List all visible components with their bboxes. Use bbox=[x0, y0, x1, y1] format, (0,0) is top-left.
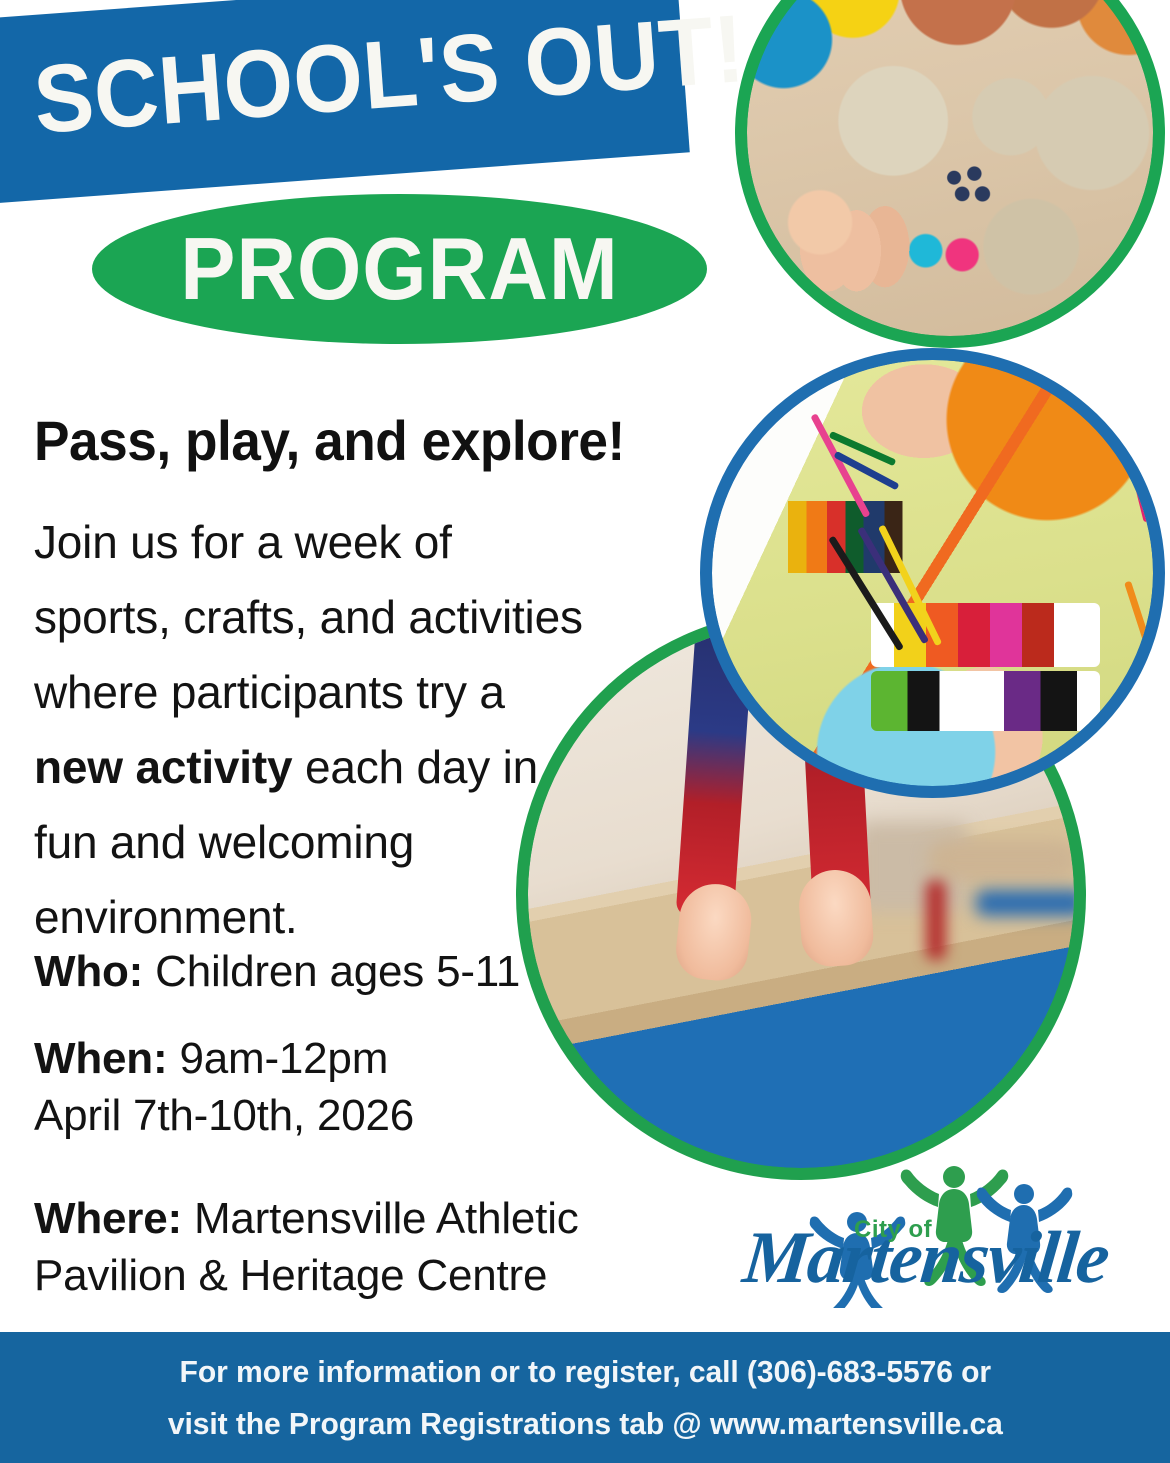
poster-title-line1: SCHOOL'S OUT! bbox=[31, 12, 595, 149]
footer-line-1: For more information or to register, cal… bbox=[179, 1346, 990, 1398]
gym-background-blur-c bbox=[926, 880, 946, 960]
detail-when-line1: When: 9am-12pm bbox=[34, 1030, 414, 1087]
detail-where-label: Where: bbox=[34, 1194, 182, 1243]
pencil-magenta bbox=[1120, 426, 1150, 522]
page-headline: Pass, play, and explore! bbox=[34, 408, 625, 473]
body-paragraph-part1: Join us for a week of sports, crafts, an… bbox=[34, 516, 583, 718]
detail-when: When: 9am-12pm April 7th-10th, 2026 bbox=[34, 1030, 414, 1144]
detail-who-value: Children ages 5-11 bbox=[143, 947, 520, 996]
painting-supplies-image bbox=[712, 360, 1153, 786]
logo-city-of-label: City of bbox=[854, 1216, 932, 1244]
detail-who: Who: Children ages 5-11 bbox=[34, 943, 520, 1000]
clay-crafts-image bbox=[747, 0, 1153, 336]
pencil-orange bbox=[1124, 580, 1153, 658]
body-paragraph-bold: new activity bbox=[34, 741, 292, 793]
detail-where-line2: Pavilion & Heritage Centre bbox=[34, 1247, 579, 1304]
watercolour-pan-row-3 bbox=[871, 671, 1100, 731]
detail-where-line1: Where: Martensville Athletic bbox=[34, 1190, 579, 1247]
title-banner: SCHOOL'S OUT! bbox=[0, 0, 690, 207]
detail-where: Where: Martensville Athletic Pavilion & … bbox=[34, 1190, 579, 1304]
poster-canvas: SCHOOL'S OUT! PROGRAM bbox=[0, 0, 1170, 1463]
detail-when-value: 9am-12pm bbox=[167, 1034, 388, 1083]
city-of-martensville-logo: Martensville City of bbox=[742, 1160, 1110, 1308]
painting-supplies-photo bbox=[700, 348, 1165, 798]
clay-crafts-photo bbox=[735, 0, 1165, 348]
detail-who-label: Who: bbox=[34, 947, 143, 996]
poster-title-line2: PROGRAM bbox=[110, 194, 688, 344]
detail-when-label: When: bbox=[34, 1034, 167, 1083]
detail-where-value: Martensville Athletic bbox=[182, 1194, 579, 1243]
detail-when-dates: April 7th-10th, 2026 bbox=[34, 1087, 414, 1144]
pencil-red bbox=[1144, 443, 1153, 539]
footer-banner: For more information or to register, cal… bbox=[0, 1332, 1170, 1463]
body-paragraph: Join us for a week of sports, crafts, an… bbox=[34, 505, 594, 955]
footer-line-2: visit the Program Registrations tab @ ww… bbox=[168, 1398, 1003, 1450]
gymnast-hand-right bbox=[797, 868, 876, 969]
gym-background-blur-b bbox=[928, 840, 1074, 880]
program-ellipse: PROGRAM bbox=[92, 194, 707, 344]
gym-background-blur-d bbox=[976, 890, 1074, 916]
